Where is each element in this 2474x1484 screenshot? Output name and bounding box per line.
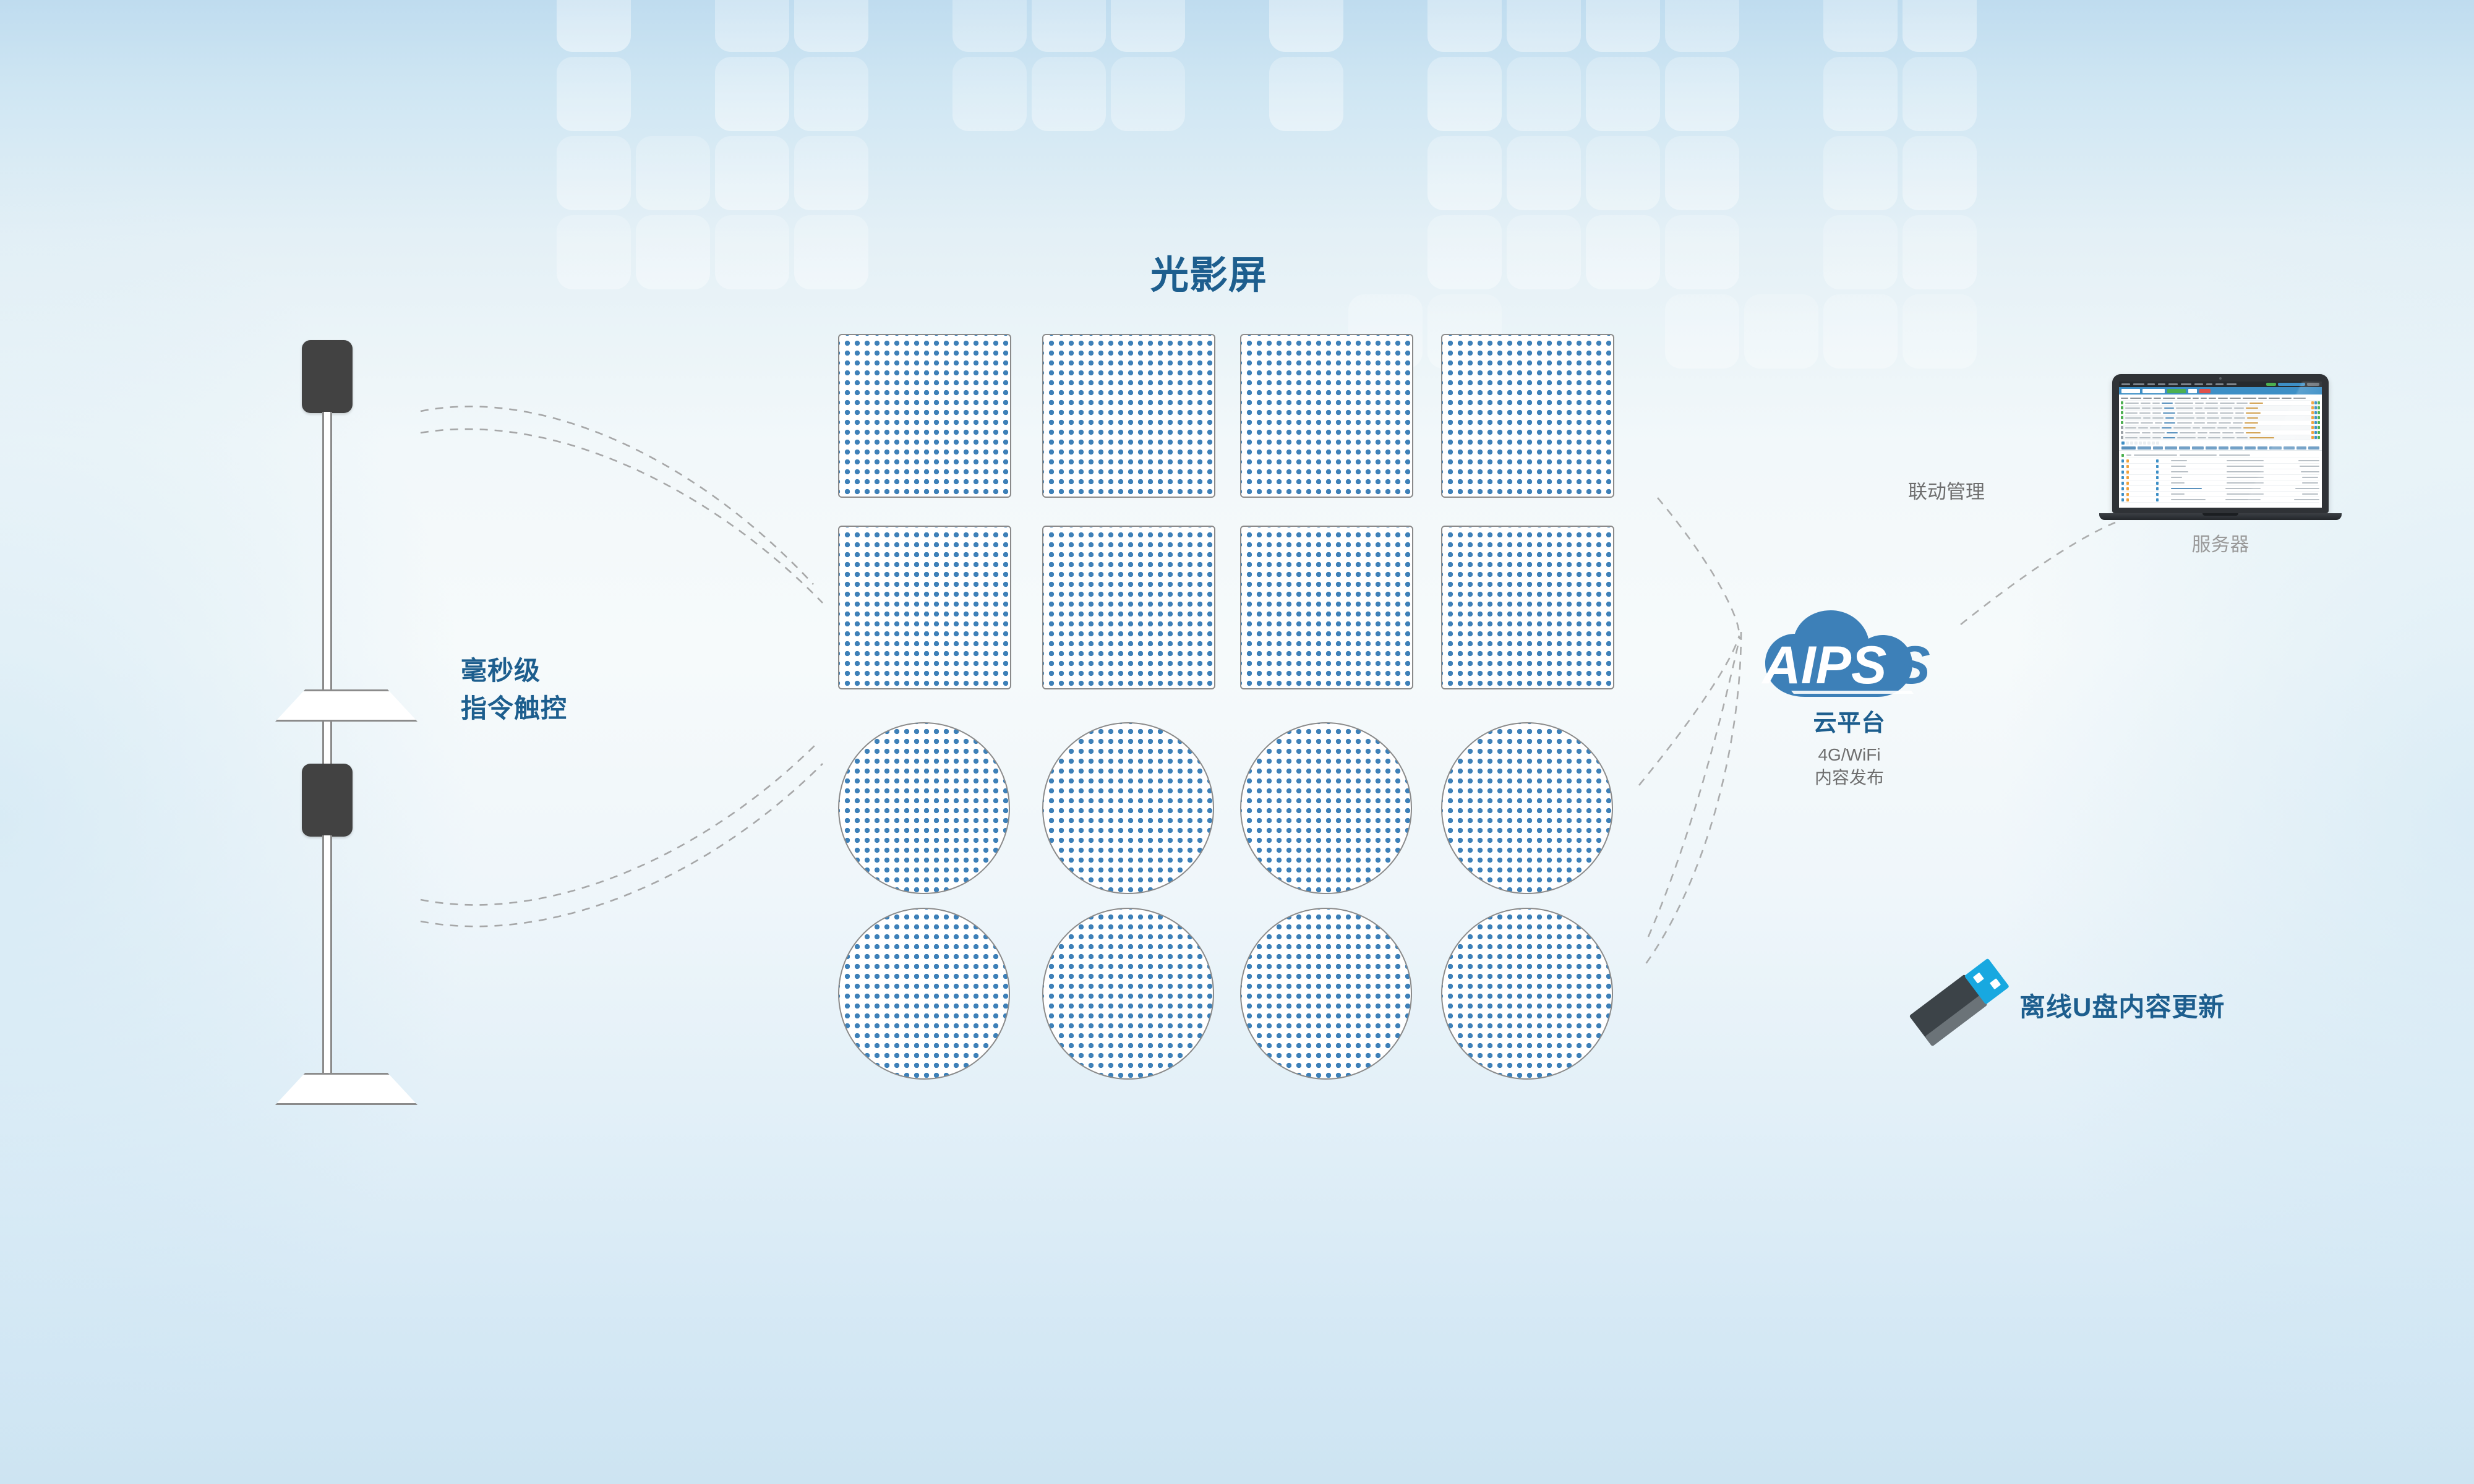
kiosk-tablet-bottom[interactable] xyxy=(302,764,353,837)
cloud-sub-line2: 内容发布 xyxy=(1757,767,1942,790)
led-panel-circle[interactable] xyxy=(1441,722,1613,894)
list-item[interactable] xyxy=(2121,492,2319,497)
kiosk-base-bottom xyxy=(275,1073,417,1105)
list-item[interactable] xyxy=(2121,486,2319,492)
linkage-management-label: 联动管理 xyxy=(1908,476,1985,504)
led-panel-square[interactable] xyxy=(838,526,1011,689)
dashboard-toolbar[interactable] xyxy=(2119,387,2322,394)
table-row[interactable] xyxy=(2121,416,2320,420)
dashboard-detail-list xyxy=(2119,451,2322,503)
laptop-screen[interactable] xyxy=(2119,382,2322,508)
dashboard-menubar xyxy=(2119,382,2322,387)
page-title: 光影屏 xyxy=(1150,257,1267,295)
table-row[interactable] xyxy=(2121,401,2320,406)
touch-kiosk-stand[interactable] xyxy=(260,340,445,748)
list-item[interactable] xyxy=(2121,458,2319,464)
table-pagination[interactable] xyxy=(2119,440,2322,445)
laptop-base xyxy=(2099,513,2342,520)
kiosk-base-top xyxy=(275,689,417,722)
laptop-icon[interactable] xyxy=(2112,374,2329,520)
cloud-platform-sublabel: 4G/WiFi 内容发布 xyxy=(1757,744,1942,790)
led-panel-circle[interactable] xyxy=(1240,722,1412,894)
list-item[interactable] xyxy=(2121,475,2319,480)
list-item[interactable] xyxy=(2121,464,2319,469)
laptop-camera-icon xyxy=(2219,377,2222,380)
usb-drive-icon[interactable] xyxy=(1902,952,2016,1054)
led-panel-circle[interactable] xyxy=(1441,908,1613,1080)
cloud-icon: AIPS S xyxy=(1757,609,1961,708)
led-panel-square[interactable] xyxy=(1042,334,1215,498)
cloud-platform-block[interactable]: AIPS S 云平台 4G/WiFi 内容发布 xyxy=(1757,609,1992,790)
led-panel-circle[interactable] xyxy=(1042,908,1214,1080)
touch-kiosk-stand-lower[interactable] xyxy=(260,745,445,1153)
led-panel-circle[interactable] xyxy=(838,722,1010,894)
led-panel-square[interactable] xyxy=(1441,526,1614,689)
cloud-platform-label: 云平台 xyxy=(1757,712,1942,736)
touch-label-line1: 毫秒级 xyxy=(461,652,567,690)
list-item[interactable] xyxy=(2121,453,2319,458)
led-panel-circle[interactable] xyxy=(1042,722,1214,894)
light-shadow-screen-grid xyxy=(838,334,1630,1051)
list-item[interactable] xyxy=(2121,497,2319,503)
table-row[interactable] xyxy=(2121,425,2320,430)
table-row[interactable] xyxy=(2121,420,2320,425)
laptop-lid xyxy=(2112,374,2329,513)
table-row[interactable] xyxy=(2121,435,2320,440)
dashboard-table xyxy=(2119,394,2322,440)
cloud-logo-s-glyph: S xyxy=(1894,636,1930,695)
led-panel-square[interactable] xyxy=(1240,526,1413,689)
touch-device-label: 毫秒级 指令触控 xyxy=(461,652,567,728)
led-panel-circle[interactable] xyxy=(838,908,1010,1080)
list-item[interactable] xyxy=(2121,469,2319,475)
usb-update-label: 离线U盘内容更新 xyxy=(2019,986,2225,1024)
led-panel-square[interactable] xyxy=(1441,334,1614,498)
server-label: 服务器 xyxy=(2112,529,2329,556)
laptop-trackpad-notch xyxy=(2202,513,2238,516)
led-panel-circle[interactable] xyxy=(1240,908,1412,1080)
table-header-row xyxy=(2121,396,2320,401)
led-panel-square[interactable] xyxy=(838,334,1011,498)
led-panel-square[interactable] xyxy=(1042,526,1215,689)
table-row[interactable] xyxy=(2121,430,2320,435)
kiosk-tablet-top[interactable] xyxy=(302,340,353,413)
table-row[interactable] xyxy=(2121,406,2320,411)
cloud-sub-line1: 4G/WiFi xyxy=(1757,744,1942,767)
list-item[interactable] xyxy=(2121,480,2319,486)
kiosk-pole-bottom xyxy=(322,835,332,1092)
led-panel-square[interactable] xyxy=(1240,334,1413,498)
dashboard-tabs[interactable] xyxy=(2119,445,2322,451)
table-row[interactable] xyxy=(2121,411,2320,416)
touch-label-line2: 指令触控 xyxy=(461,690,567,728)
